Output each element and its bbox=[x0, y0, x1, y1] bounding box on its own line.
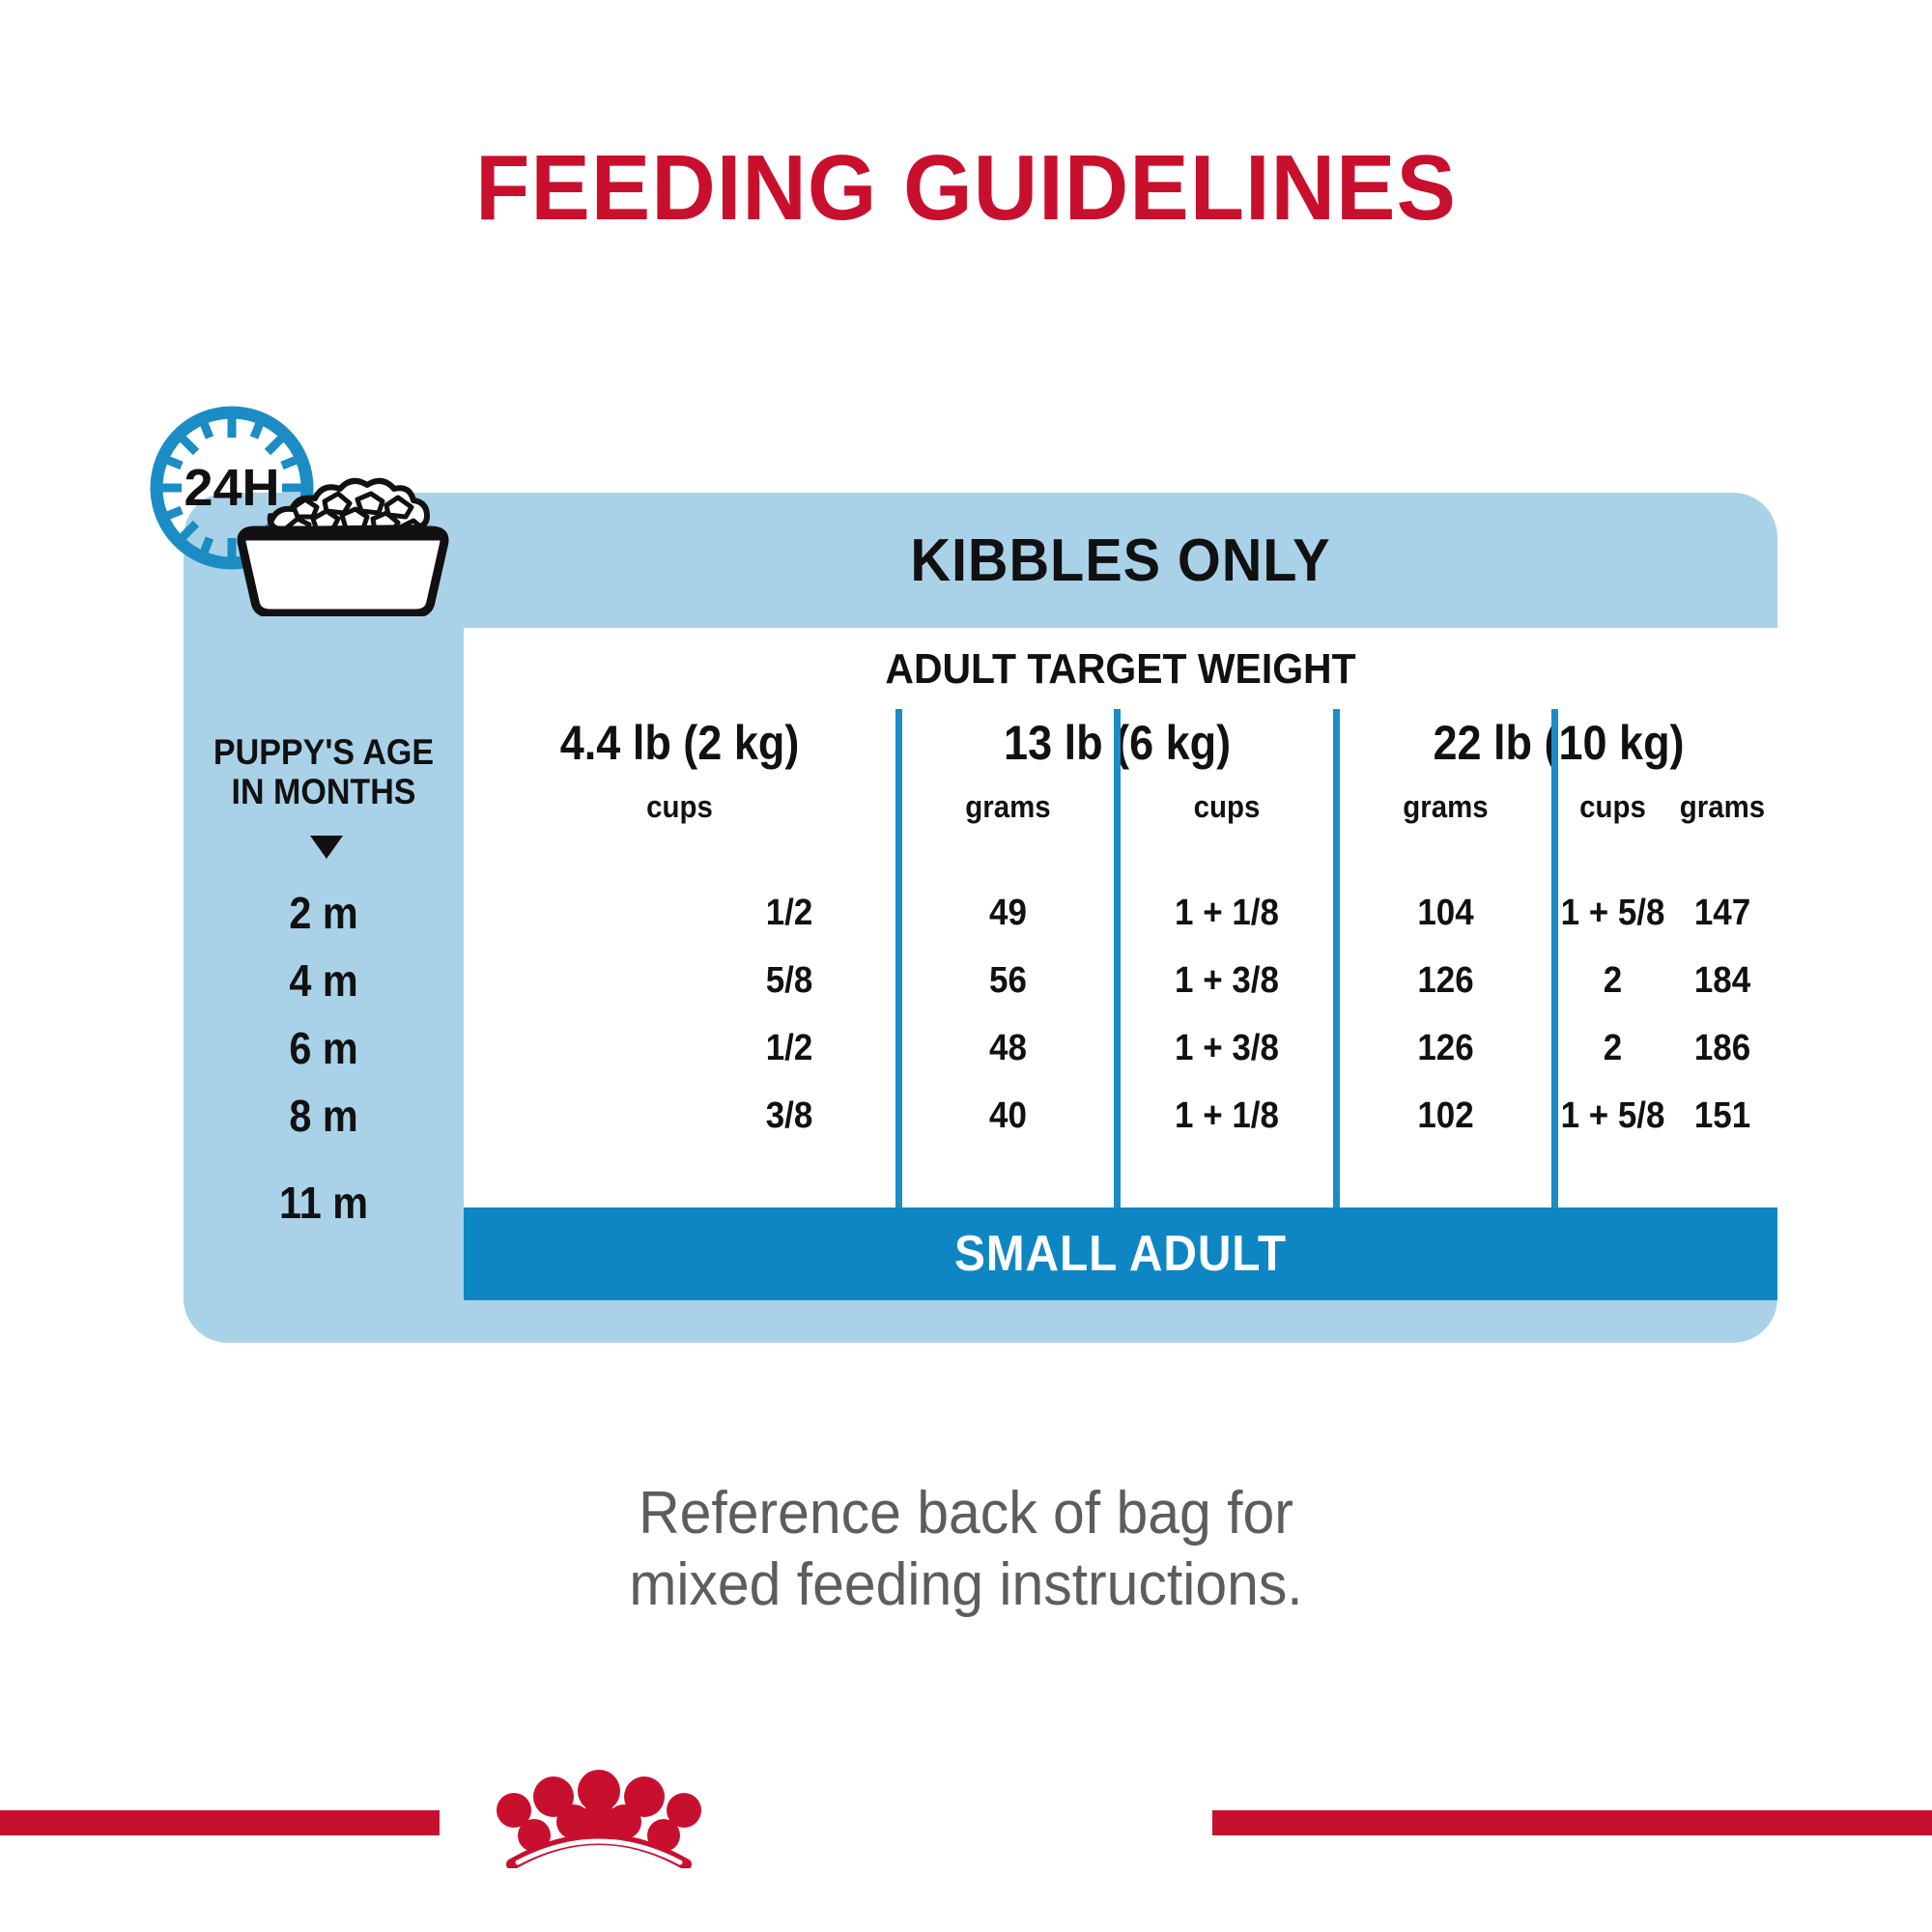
cell-r2-c3: 126 bbox=[1349, 1014, 1543, 1082]
footer-note: Reference back of bag for mixed feeding … bbox=[48, 1478, 1884, 1622]
unit-header-2-cups: cups bbox=[1563, 782, 1663, 831]
brand-rule-right bbox=[1212, 1810, 1932, 1835]
unit-header-1-grams: grams bbox=[1349, 782, 1543, 831]
cell-r0-c2: 1 + 1/8 bbox=[1129, 879, 1324, 947]
panel-header: KIBBLES ONLY bbox=[464, 493, 1777, 628]
age-cell-3: 8 m bbox=[198, 1082, 450, 1150]
column-separator-1 bbox=[895, 709, 902, 1207]
cell-r1-c3: 126 bbox=[1349, 947, 1543, 1014]
age-cell-2: 6 m bbox=[198, 1014, 450, 1082]
age-column-header-line1: PUPPY'S AGE bbox=[213, 732, 434, 772]
cell-r0-c5: 147 bbox=[1672, 879, 1774, 947]
age-column: PUPPY'S AGE IN MONTHS 2 m 4 m 6 m 8 m 11… bbox=[184, 493, 464, 1343]
weight-group-label-2: 22 lb (10 kg) bbox=[1433, 715, 1684, 771]
royal-canin-crown-logo bbox=[493, 1766, 724, 1868]
age-cell-4: 11 m bbox=[198, 1169, 450, 1236]
cell-r0-c1: 49 bbox=[911, 879, 1105, 947]
age-column-header: PUPPY'S AGE IN MONTHS bbox=[195, 732, 453, 812]
age-cell-0: 2 m bbox=[198, 879, 450, 947]
cell-r1-c4: 2 bbox=[1563, 947, 1663, 1014]
feeding-table-panel: PUPPY'S AGE IN MONTHS 2 m 4 m 6 m 8 m 11… bbox=[184, 493, 1777, 1343]
unit-header-0-grams: grams bbox=[911, 782, 1105, 831]
column-separator-2 bbox=[1114, 709, 1121, 1207]
weight-group-header-2: 22 lb (10 kg) bbox=[1340, 709, 1777, 777]
cell-r1-c5: 184 bbox=[1672, 947, 1774, 1014]
unit-header-1-cups: cups bbox=[1129, 782, 1324, 831]
cell-r2-c2: 1 + 3/8 bbox=[1129, 1014, 1324, 1082]
age-cell-1: 4 m bbox=[198, 947, 450, 1014]
triangle-down-icon bbox=[310, 836, 343, 859]
brand-bar bbox=[0, 1748, 1932, 1874]
footer-note-line2: mixed feeding instructions. bbox=[629, 1551, 1302, 1618]
cell-r3-c2: 1 + 1/8 bbox=[1129, 1082, 1324, 1150]
cell-r2-c5: 186 bbox=[1672, 1014, 1774, 1082]
footer-note-line1: Reference back of bag for bbox=[639, 1480, 1293, 1547]
unit-header-2-grams: grams bbox=[1672, 782, 1774, 831]
page-title: FEEDING GUIDELINES bbox=[39, 135, 1893, 241]
unit-header-0-cups: cups bbox=[481, 782, 878, 831]
cell-r2-c0: 1/2 bbox=[692, 1014, 887, 1082]
adult-target-weight-label: ADULT TARGET WEIGHT bbox=[510, 645, 1732, 694]
cell-r3-c1: 40 bbox=[911, 1082, 1105, 1150]
cell-r0-c0: 1/2 bbox=[692, 879, 887, 947]
cell-r1-c1: 56 bbox=[911, 947, 1105, 1014]
small-adult-row: SMALL ADULT bbox=[464, 1207, 1777, 1300]
cell-r3-c4: 1 + 5/8 bbox=[1563, 1082, 1663, 1150]
age-column-header-line2: IN MONTHS bbox=[231, 772, 415, 811]
column-separator-4 bbox=[1551, 709, 1558, 1207]
cell-r3-c3: 102 bbox=[1349, 1082, 1543, 1150]
cell-r3-c5: 151 bbox=[1672, 1082, 1774, 1150]
cell-r0-c4: 1 + 5/8 bbox=[1563, 879, 1663, 947]
cell-r0-c3: 104 bbox=[1349, 879, 1543, 947]
kibble-bowl-icon bbox=[232, 476, 454, 616]
clock-bowl-icon-group: 24H bbox=[135, 391, 454, 613]
weight-group-header-0: 4.4 lb (2 kg) bbox=[464, 709, 895, 777]
column-separator-3 bbox=[1333, 709, 1340, 1207]
cell-r2-c4: 2 bbox=[1563, 1014, 1663, 1082]
brand-rule-left bbox=[0, 1810, 440, 1835]
cell-r1-c0: 5/8 bbox=[692, 947, 887, 1014]
cell-r3-c0: 3/8 bbox=[692, 1082, 887, 1150]
cell-r2-c1: 48 bbox=[911, 1014, 1105, 1082]
weight-group-label-0: 4.4 lb (2 kg) bbox=[560, 715, 800, 771]
small-adult-label: SMALL ADULT bbox=[954, 1225, 1287, 1283]
panel-header-label: KIBBLES ONLY bbox=[910, 526, 1330, 595]
cell-r1-c2: 1 + 3/8 bbox=[1129, 947, 1324, 1014]
table-body: ADULT TARGET WEIGHT 4.4 lb (2 kg) 13 lb … bbox=[464, 628, 1777, 1207]
